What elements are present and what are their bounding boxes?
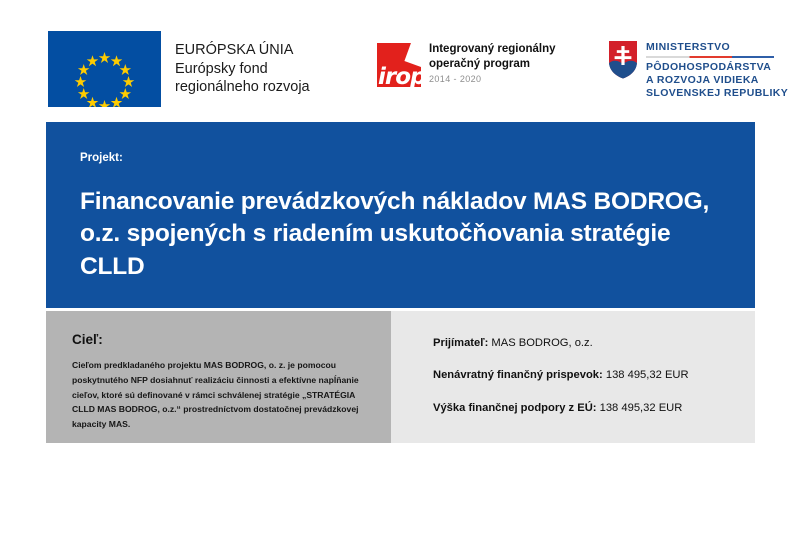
irop-years: 2014 - 2020 bbox=[429, 74, 556, 84]
goal-panel: Cieľ: Cieľom predkladaného projektu MAS … bbox=[46, 311, 391, 443]
eu-line-3: regionálneho rozvoja bbox=[175, 78, 310, 97]
fact-row: Výška finančnej podpory z EÚ: 138 495,32… bbox=[433, 402, 735, 415]
goal-heading: Cieľ: bbox=[72, 332, 369, 347]
project-label: Projekt: bbox=[80, 152, 721, 164]
fact-value: 138 495,32 EUR bbox=[606, 369, 689, 381]
goal-text: Cieľom predkladaného projektu MAS BODROG… bbox=[72, 358, 369, 432]
ministry-title: MINISTERSTVO bbox=[646, 41, 788, 54]
facts-panel: Prijímateľ: MAS BODROG, o.z. Nenávratný … bbox=[391, 311, 755, 443]
slovak-coat-of-arms-icon bbox=[608, 41, 638, 79]
ministry-line-3: SLOVENSKEJ REPUBLIKY bbox=[646, 87, 788, 100]
details-panels: Cieľ: Cieľom predkladaného projektu MAS … bbox=[46, 311, 755, 443]
eu-line-1: EURÓPSKA ÚNIA bbox=[175, 41, 310, 60]
project-title: Financovanie prevádzkových nákladov MAS … bbox=[80, 186, 721, 283]
eu-line-2: Európsky fond bbox=[175, 60, 310, 79]
irop-line-1: Integrovaný regionálny bbox=[429, 42, 556, 57]
irop-logo-text: Integrovaný regionálny operačný program … bbox=[429, 42, 556, 84]
irop-wordmark: irop bbox=[378, 64, 421, 87]
fact-row: Prijímateľ: MAS BODROG, o.z. bbox=[433, 337, 735, 350]
eu-flag-icon bbox=[48, 31, 161, 107]
irop-line-2: operačný program bbox=[429, 57, 556, 72]
fact-label: Výška finančnej podpory z EÚ: bbox=[433, 402, 597, 414]
eu-logo-text: EURÓPSKA ÚNIA Európsky fond regionálneho… bbox=[175, 41, 310, 97]
fact-label: Nenávratný finančný prispevok: bbox=[433, 369, 603, 381]
project-info-poster: EURÓPSKA ÚNIA Európsky fond regionálneho… bbox=[0, 0, 800, 535]
project-banner: Projekt: Financovanie prevádzkových nákl… bbox=[46, 122, 755, 308]
logo-strip: EURÓPSKA ÚNIA Európsky fond regionálneho… bbox=[0, 0, 800, 120]
ministry-logo-text: MINISTERSTVO PÔDOHOSPODÁRSTVA A ROZVOJA … bbox=[646, 41, 788, 100]
eu-logo-block: EURÓPSKA ÚNIA Európsky fond regionálneho… bbox=[48, 31, 310, 107]
irop-logo-icon: irop bbox=[377, 43, 421, 87]
ministry-tricolor-rule bbox=[646, 56, 774, 58]
fact-label: Prijímateľ: bbox=[433, 337, 488, 349]
ministry-line-2: A ROZVOJA VIDIEKA bbox=[646, 74, 788, 87]
ministry-line-1: PÔDOHOSPODÁRSTVA bbox=[646, 61, 788, 74]
fact-value: 138 495,32 EUR bbox=[600, 402, 683, 414]
irop-logo-block: irop Integrovaný regionálny operačný pro… bbox=[377, 43, 556, 87]
fact-row: Nenávratný finančný prispevok: 138 495,3… bbox=[433, 369, 735, 382]
ministry-logo-block: MINISTERSTVO PÔDOHOSPODÁRSTVA A ROZVOJA … bbox=[608, 41, 788, 100]
fact-value: MAS BODROG, o.z. bbox=[491, 337, 592, 349]
